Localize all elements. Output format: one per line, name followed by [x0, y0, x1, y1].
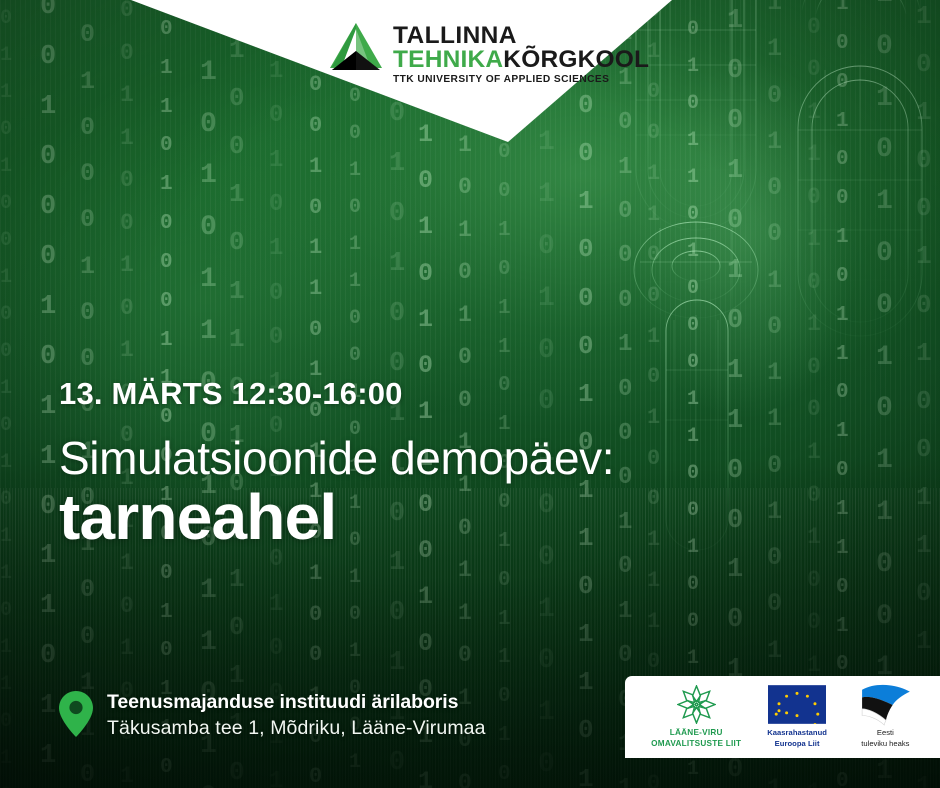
logo-line-tallinna: TALLINNA — [393, 24, 649, 47]
funder-caption-line-1: Eesti — [861, 728, 909, 739]
logo-line-tehnika-korgkool: TEHNIKAKÕRGKOOL — [393, 48, 649, 72]
funder-caption-line-2: OMAVALITSUSTE LIIT — [651, 738, 741, 749]
map-pin-icon — [59, 691, 93, 737]
event-date-time: 13. MÄRTS 12:30-16:00 — [59, 378, 699, 411]
main-copy: 13. MÄRTS 12:30-16:00 Simulatsioonide de… — [59, 378, 699, 551]
funders-panel: LÄÄNE-VIRU OMAVALITSUSTE LIIT — [625, 676, 940, 758]
location-venue: Teenusmajanduse instituudi ärilaboris — [107, 690, 486, 714]
ttk-university-logo: TALLINNA TEHNIKAKÕRGKOOL TTK UNIVERSITY … — [328, 21, 649, 85]
event-title-line-1: Simulatsioonide demopäev: — [59, 435, 699, 481]
funder-caption-estonia: Eesti tuleviku heaks — [861, 728, 909, 749]
logo-word-korgkool: KÕRGKOOL — [503, 46, 649, 73]
funder-caption-line-2: Euroopa Liit — [767, 739, 827, 749]
event-title-line-2: tarneahel — [59, 485, 699, 551]
ttk-pyramid-icon — [328, 21, 384, 78]
funder-caption-line-1: Kaasrahastanud — [767, 728, 827, 738]
funder-caption-laane-viru: LÄÄNE-VIRU OMAVALITSUSTE LIIT — [651, 727, 741, 749]
event-location: Teenusmajanduse instituudi ärilaboris Tä… — [59, 688, 486, 742]
logo-word-tehnika: TEHNIKA — [393, 46, 503, 73]
lv-star-flower-logo-icon — [677, 685, 716, 724]
location-address: Täkusamba tee 1, Mõdriku, Lääne-Virumaa — [107, 716, 486, 741]
funder-laane-viru: LÄÄNE-VIRU OMAVALITSUSTE LIIT — [639, 685, 753, 749]
logo-tagline: TTK UNIVERSITY OF APPLIED SCIENCES — [393, 74, 649, 85]
estonian-flag-icon — [854, 684, 916, 726]
funder-european-union: Kaasrahastanud Euroopa Liit — [753, 685, 840, 749]
funder-caption-eu: Kaasrahastanud Euroopa Liit — [767, 728, 827, 749]
eu-flag-icon — [768, 685, 826, 724]
event-poster: 0 1 1 0 1 0 0 1 0 0 1 0 1 0 1 1 0 1 1 0 … — [0, 0, 940, 788]
funder-eesti-tuleviku-heaks: Eesti tuleviku heaks — [841, 684, 930, 749]
funder-caption-line-2: tuleviku heaks — [861, 739, 909, 750]
funder-caption-line-1: LÄÄNE-VIRU — [651, 727, 741, 738]
